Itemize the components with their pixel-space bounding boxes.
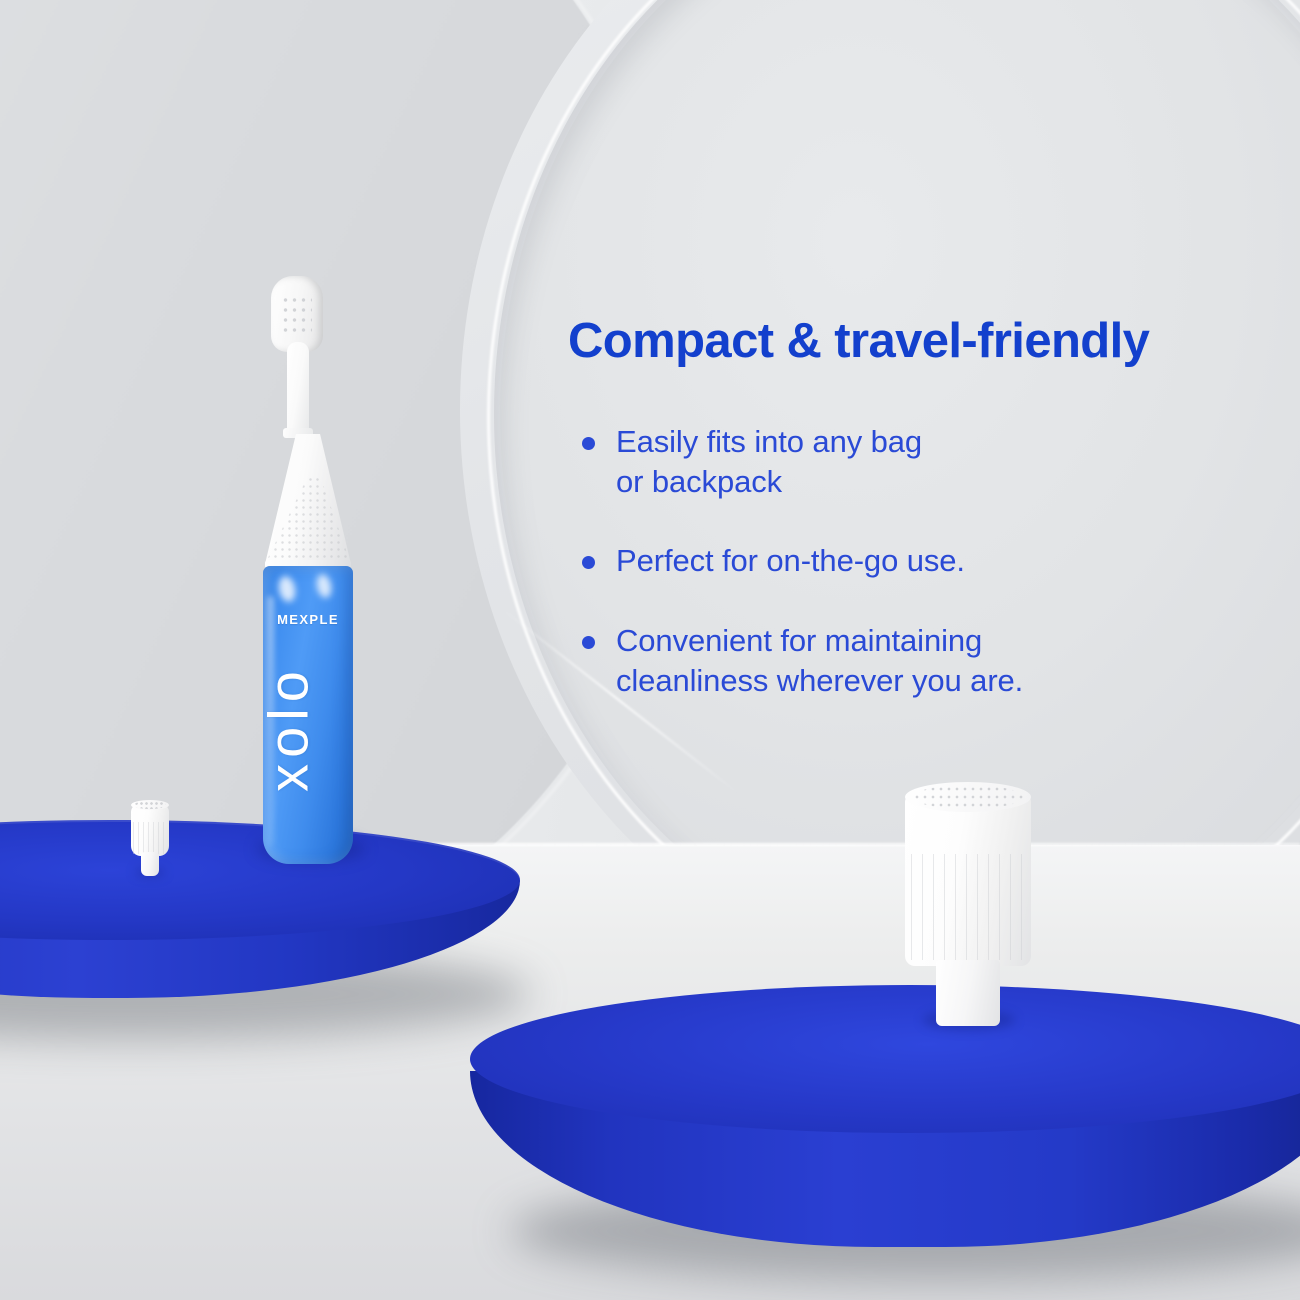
cap-small-bristle-texture <box>134 801 166 809</box>
page-title: Compact & travel-friendly <box>568 316 1268 368</box>
brush-head-cap-small <box>131 800 169 878</box>
list-item-line-1: Convenient for maintaining <box>616 623 982 658</box>
cap-small-stem <box>141 852 159 876</box>
list-item: Perfect for on-the-go use. <box>576 541 1216 581</box>
bristles-texture <box>280 294 312 334</box>
podium-right <box>470 985 1300 1247</box>
cap-large-ribs <box>911 854 1025 960</box>
list-item: Convenient for maintaining cleanliness w… <box>576 621 1216 700</box>
electric-toothbrush: MEXPLE xolo <box>243 276 371 864</box>
bullet-dot-icon <box>582 437 595 450</box>
product-feature-banner: Compact & travel-friendly Easily fits in… <box>0 0 1300 1300</box>
feature-list: Easily fits into any bag or backpack Per… <box>576 422 1216 700</box>
list-item-line-1: Perfect for on-the-go use. <box>616 543 965 578</box>
bullet-dot-icon <box>582 636 595 649</box>
copy-block: Compact & travel-friendly Easily fits in… <box>568 316 1268 368</box>
bullet-dot-icon <box>582 556 595 569</box>
product-brand-vertical: xolo <box>256 651 321 807</box>
list-item: Easily fits into any bag or backpack <box>576 422 1216 501</box>
cap-large-stem <box>936 960 1000 1026</box>
product-brand-mark: MEXPLE <box>267 612 349 627</box>
brush-neck <box>287 342 309 438</box>
list-item-line-2: cleanliness wherever you are. <box>616 663 1023 698</box>
cap-small-ribs <box>133 822 167 854</box>
list-item-line-1: Easily fits into any bag <box>616 424 922 459</box>
cap-large-bristle-texture <box>913 785 1023 809</box>
list-item-line-2: or backpack <box>616 464 782 499</box>
brush-head-cap-large <box>905 782 1031 1034</box>
